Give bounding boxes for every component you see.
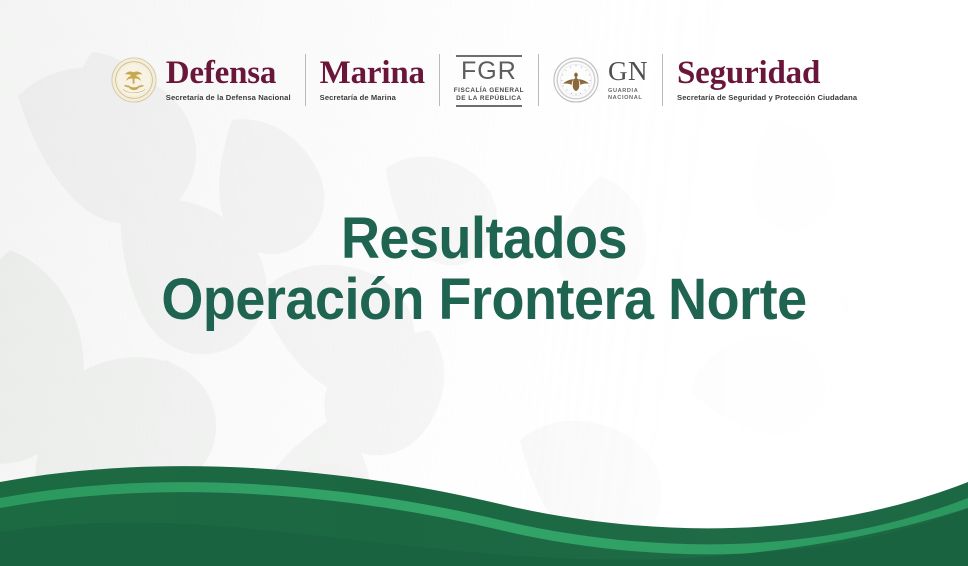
logo-separator: [439, 54, 440, 106]
title-line-2: Operación Frontera Norte: [34, 269, 934, 330]
defensa-wordmark: Defensa Secretaría de la Defensa Naciona…: [166, 57, 291, 102]
guardia-nacional-eagle-seal-icon: [553, 57, 599, 103]
logo-separator: [662, 54, 663, 106]
fgr-subtitle-line-1: FISCALÍA GENERAL: [454, 87, 524, 95]
gn-name: GN: [608, 58, 648, 85]
seguridad-name: Seguridad: [677, 57, 857, 90]
logo-guardia-nacional: GN GUARDIA NACIONAL: [553, 49, 648, 111]
logo-defensa: Defensa Secretaría de la Defensa Naciona…: [111, 49, 291, 111]
seguridad-subtitle: Secretaría de Seguridad y Protección Ciu…: [677, 94, 857, 102]
logo-seguridad: Seguridad Secretaría de Seguridad y Prot…: [677, 49, 857, 111]
logo-separator: [305, 54, 306, 106]
fgr-bottom-rule: [456, 105, 522, 107]
defensa-subtitle: Secretaría de la Defensa Nacional: [166, 94, 291, 102]
gn-subtitle-line-2: NACIONAL: [608, 95, 648, 102]
marina-wordmark: Marina Secretaría de Marina: [320, 57, 425, 102]
slide-title: Resultados Operación Frontera Norte: [0, 208, 968, 331]
logo-fgr: FGR FISCALÍA GENERAL DE LA REPÚBLICA: [454, 49, 524, 111]
seguridad-wordmark: Seguridad Secretaría de Seguridad y Prot…: [677, 57, 857, 102]
fgr-subtitle-line-2: DE LA REPÚBLICA: [456, 95, 522, 103]
marina-name: Marina: [320, 57, 425, 90]
fgr-name: FGR: [461, 59, 517, 84]
marina-subtitle: Secretaría de Marina: [320, 94, 425, 102]
gn-subtitle-line-1: GUARDIA: [608, 88, 648, 95]
bottom-wave-decoration: [0, 436, 968, 566]
guardia-nacional-wordmark: GN GUARDIA NACIONAL: [608, 58, 648, 103]
title-line-1: Resultados: [34, 208, 934, 269]
mexican-national-shield-seal-icon: [111, 57, 157, 103]
fgr-wordmark: FGR FISCALÍA GENERAL DE LA REPÚBLICA: [454, 54, 524, 107]
logo-separator: [538, 54, 539, 106]
presentation-slide: Defensa Secretaría de la Defensa Naciona…: [0, 0, 968, 566]
institutional-logo-bar: Defensa Secretaría de la Defensa Naciona…: [0, 44, 968, 116]
logo-marina: Marina Secretaría de Marina: [320, 49, 425, 111]
defensa-name: Defensa: [166, 57, 291, 90]
